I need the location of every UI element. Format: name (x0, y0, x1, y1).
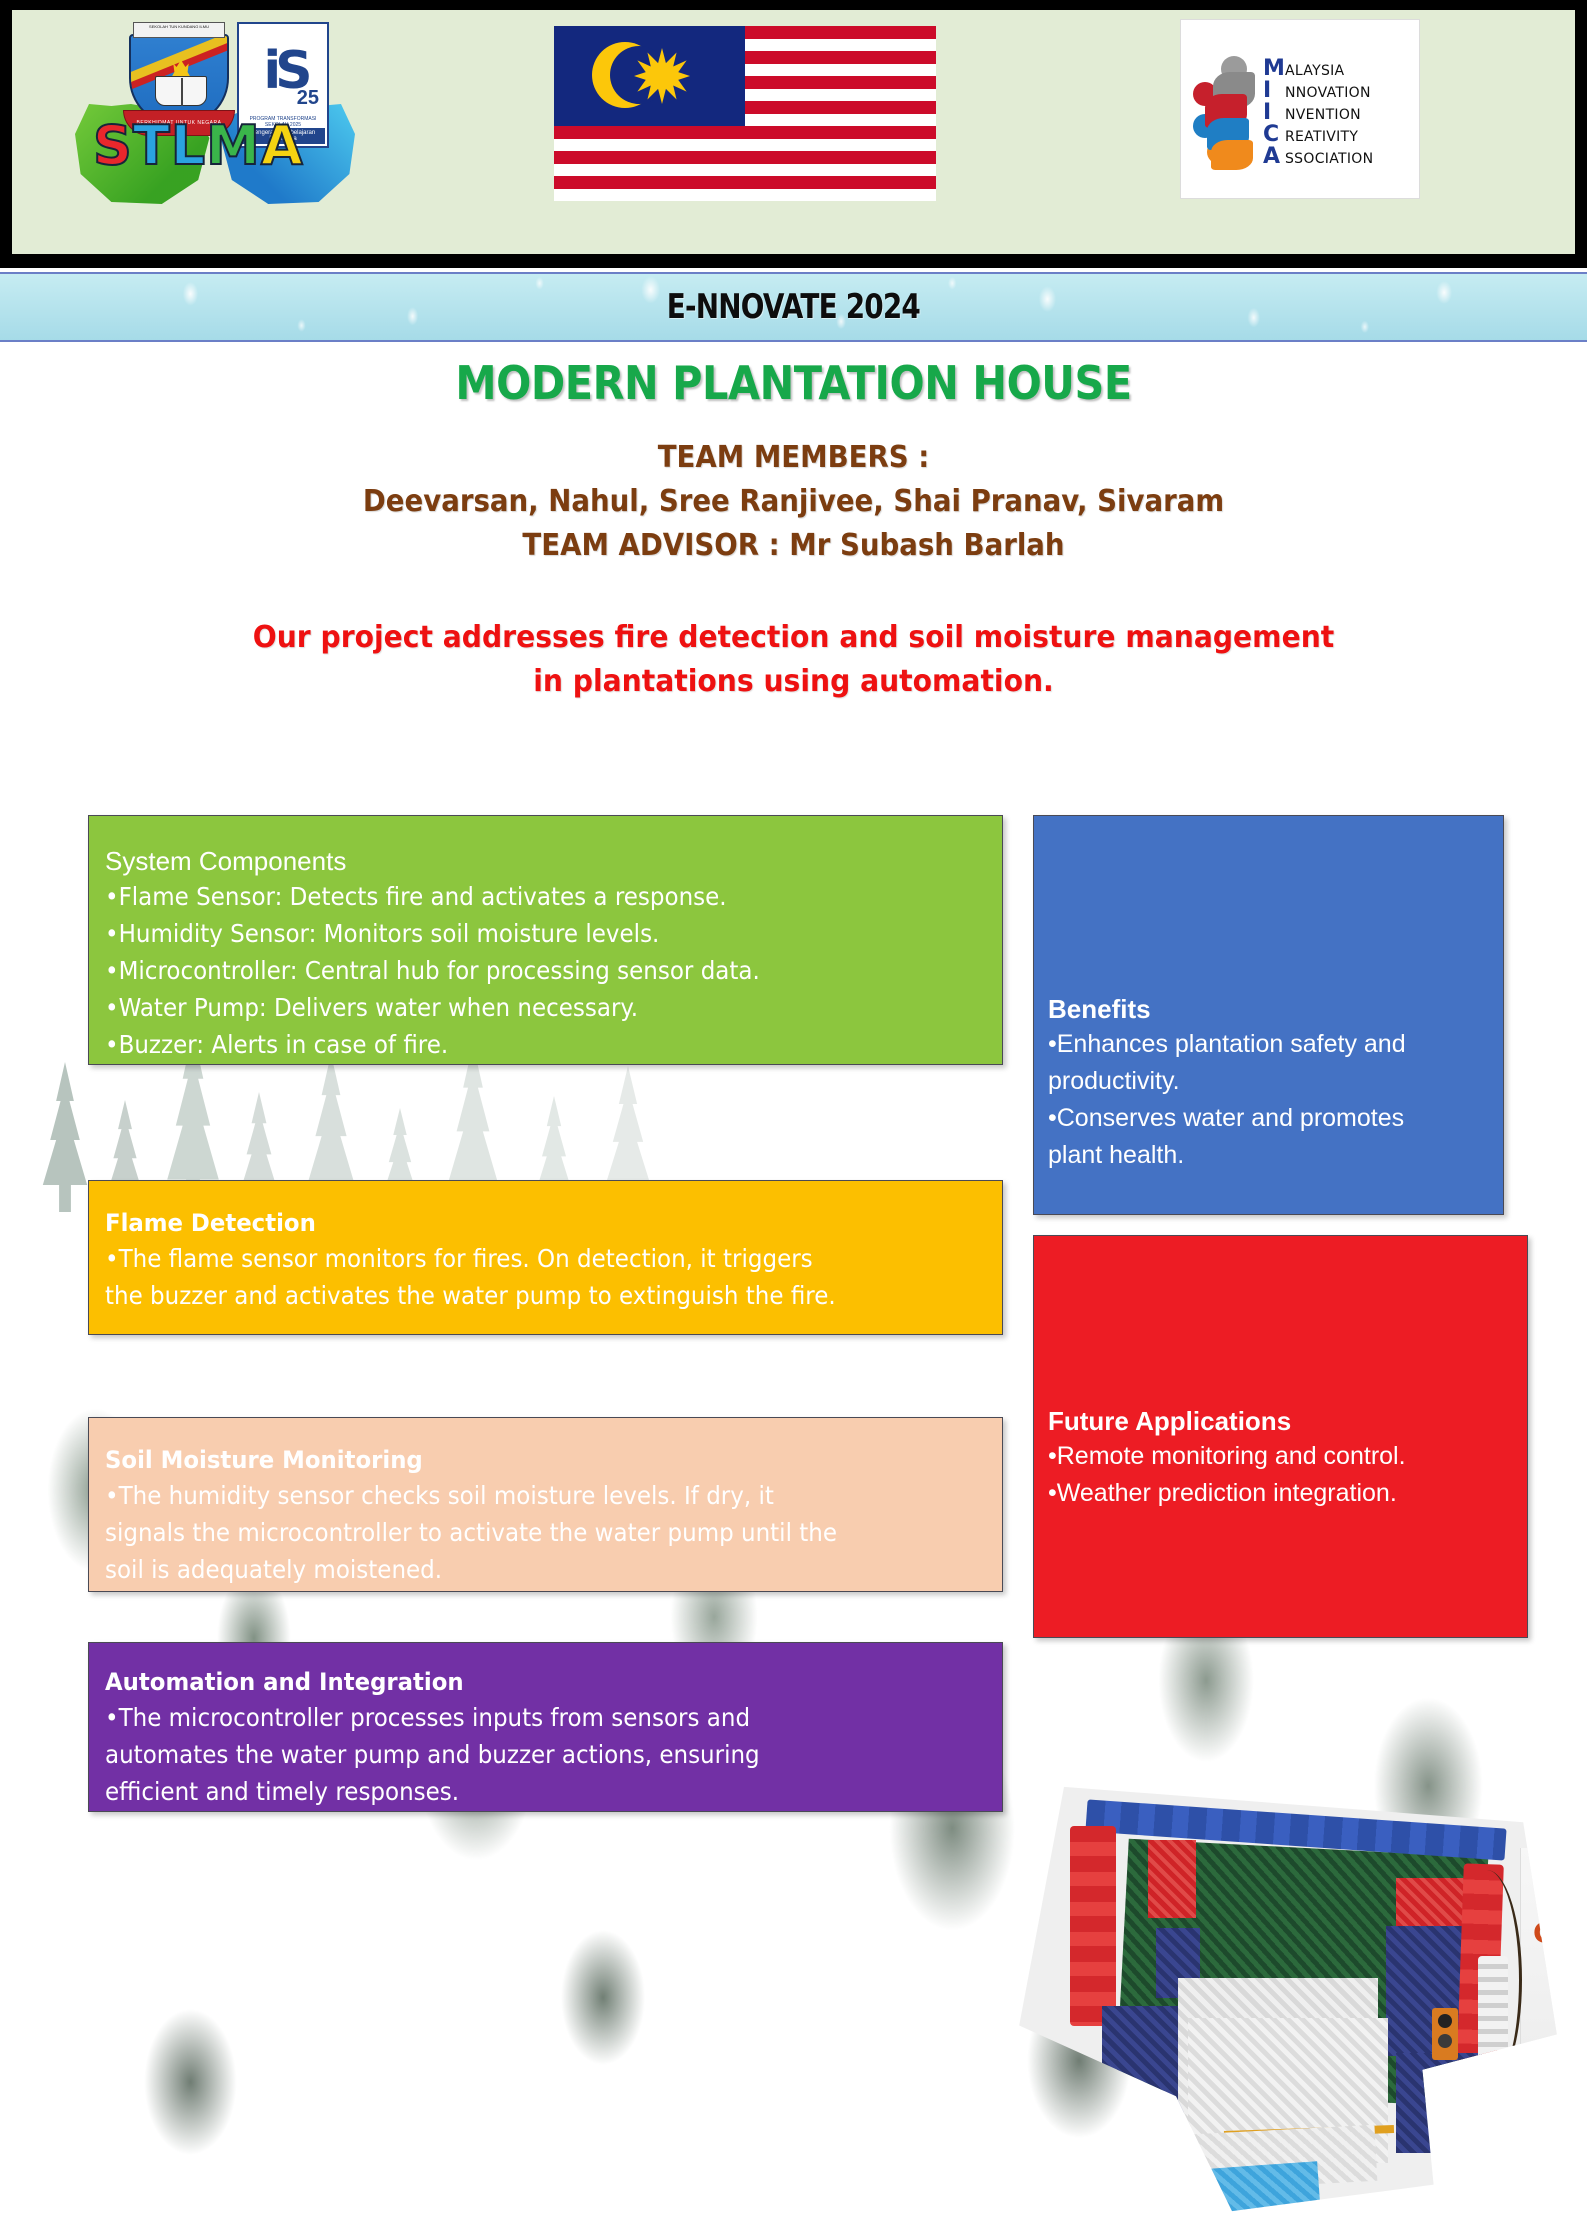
flag-canton (554, 26, 745, 126)
photo-backdrop: CR (1008, 1778, 1568, 2220)
team-members-label: TEAM MEMBERS : (63, 436, 1523, 480)
team-members-names: Deevarsan, Nahul, Sree Ranjivee, Shai Pr… (63, 480, 1523, 524)
miica-word-3: NVENTION (1285, 104, 1373, 126)
stlma-wordmark: STLMA (93, 114, 343, 178)
model-navy-wall-left (1102, 2006, 1184, 2136)
badge-number: 25 (297, 87, 319, 110)
miica-logo: MIICA ALAYSIA NNOVATION NVENTION REATIVI… (1180, 19, 1420, 199)
benefits-line-1: •Enhances plantation safety and (1048, 1026, 1489, 1063)
stlma-logo: SEKOLAH TUN KUNDANG ILMU BERKHIDMAT UNTU… (67, 16, 367, 204)
future-applications-line-1: •Remote monitoring and control. (1048, 1438, 1513, 1475)
soil-moisture-line-2: signals the microcontroller to activate … (105, 1514, 916, 1551)
event-banner-title: E-NNOVATE 2024 (667, 287, 920, 327)
model-red-column-left (1070, 1826, 1116, 2026)
tagline-line-1: Our project addresses fire detection and… (48, 616, 1540, 660)
poster-root: SEKOLAH TUN KUNDANG ILMU BERKHIDMAT UNTU… (0, 0, 1587, 2230)
photo-caption-fragment: CR (1533, 1916, 1575, 1949)
poster-body: MODERN PLANTATION HOUSE TEAM MEMBERS : D… (0, 342, 1587, 2230)
soil-moisture-line-3: soil is adequately moistened. (105, 1551, 916, 1588)
miica-word-2: NNOVATION (1285, 82, 1373, 104)
miica-word-4: REATIVITY (1285, 126, 1373, 148)
system-components-line-2: •Humidity Sensor: Monitors soil moisture… (105, 915, 916, 952)
model-sensor-wire (1452, 1870, 1522, 2090)
system-components-box: System Components •Flame Sensor: Detects… (88, 815, 1003, 1065)
malaysia-flag-icon (554, 26, 936, 201)
automation-line-3: efficient and timely responses. (105, 1773, 916, 1810)
automation-line-2: automates the water pump and buzzer acti… (105, 1736, 916, 1773)
header-logo-strip: SEKOLAH TUN KUNDANG ILMU BERKHIDMAT UNTU… (0, 0, 1587, 268)
header-inner-panel: SEKOLAH TUN KUNDANG ILMU BERKHIDMAT UNTU… (12, 10, 1575, 254)
future-applications-heading: Future Applications (1048, 1404, 1513, 1438)
miica-word-1: ALAYSIA (1285, 60, 1373, 82)
project-tagline: Our project addresses fire detection and… (48, 616, 1540, 704)
team-block: TEAM MEMBERS : Deevarsan, Nahul, Sree Ra… (0, 436, 1587, 568)
page-title: MODERN PLANTATION HOUSE (79, 356, 1507, 410)
project-model-photo: CR (1000, 1752, 1587, 2230)
soil-moisture-heading: Soil Moisture Monitoring (105, 1443, 942, 1477)
benefits-heading: Benefits (1048, 992, 1489, 1026)
crest-book-icon (155, 76, 207, 106)
future-applications-box: Future Applications •Remote monitoring a… (1033, 1235, 1528, 1638)
miica-word-5: SSOCIATION (1285, 148, 1373, 170)
benefits-line-4: plant health. (1048, 1137, 1489, 1174)
flame-detection-heading: Flame Detection (105, 1206, 940, 1240)
benefits-box: Benefits •Enhances plantation safety and… (1033, 815, 1504, 1215)
team-advisor: TEAM ADVISOR : Mr Subash Barlah (63, 524, 1523, 568)
model-navy-wall-right (1396, 2053, 1482, 2153)
soil-moisture-line-1: •The humidity sensor checks soil moistur… (105, 1477, 916, 1514)
miica-initials: MIICA (1263, 58, 1287, 168)
benefits-line-3: •Conserves water and promotes (1048, 1100, 1489, 1137)
model-red-panel-left (1148, 1840, 1196, 1918)
automation-integration-box: Automation and Integration •The microcon… (88, 1642, 1003, 1812)
miica-body-orange (1211, 140, 1253, 170)
system-components-line-3: •Microcontroller: Central hub for proces… (105, 952, 916, 989)
event-banner: E-NNOVATE 2024 (0, 272, 1587, 342)
flame-detection-line-1: •The flame sensor monitors for fires. On… (105, 1240, 914, 1277)
tagline-line-2: in plantations using automation. (48, 660, 1540, 704)
soil-moisture-box: Soil Moisture Monitoring •The humidity s… (88, 1417, 1003, 1592)
future-applications-line-2: •Weather prediction integration. (1048, 1475, 1513, 1512)
photo-poster-edge: CR (1520, 1848, 1587, 2098)
miica-expansion-words: ALAYSIA NNOVATION NVENTION REATIVITY SSO… (1285, 60, 1373, 170)
system-components-line-1: •Flame Sensor: Detects fire and activate… (105, 878, 916, 915)
flame-detection-line-2: the buzzer and activates the water pump … (105, 1277, 914, 1314)
miica-people-icon (1193, 56, 1259, 166)
system-components-line-5: •Buzzer: Alerts in case of fire. (105, 1026, 916, 1063)
flame-detection-box: Flame Detection •The flame sensor monito… (88, 1180, 1003, 1335)
automation-heading: Automation and Integration (105, 1665, 942, 1699)
automation-line-1: •The microcontroller processes inputs fr… (105, 1699, 916, 1736)
crest-top-text: SEKOLAH TUN KUNDANG ILMU (133, 22, 225, 38)
benefits-line-2: productivity. (1048, 1063, 1489, 1100)
model-blue-platform (1177, 2161, 1322, 2230)
system-components-heading: System Components (105, 844, 986, 878)
title-block: MODERN PLANTATION HOUSE TEAM MEMBERS : D… (0, 342, 1587, 704)
system-components-line-4: •Water Pump: Delivers water when necessa… (105, 989, 916, 1026)
